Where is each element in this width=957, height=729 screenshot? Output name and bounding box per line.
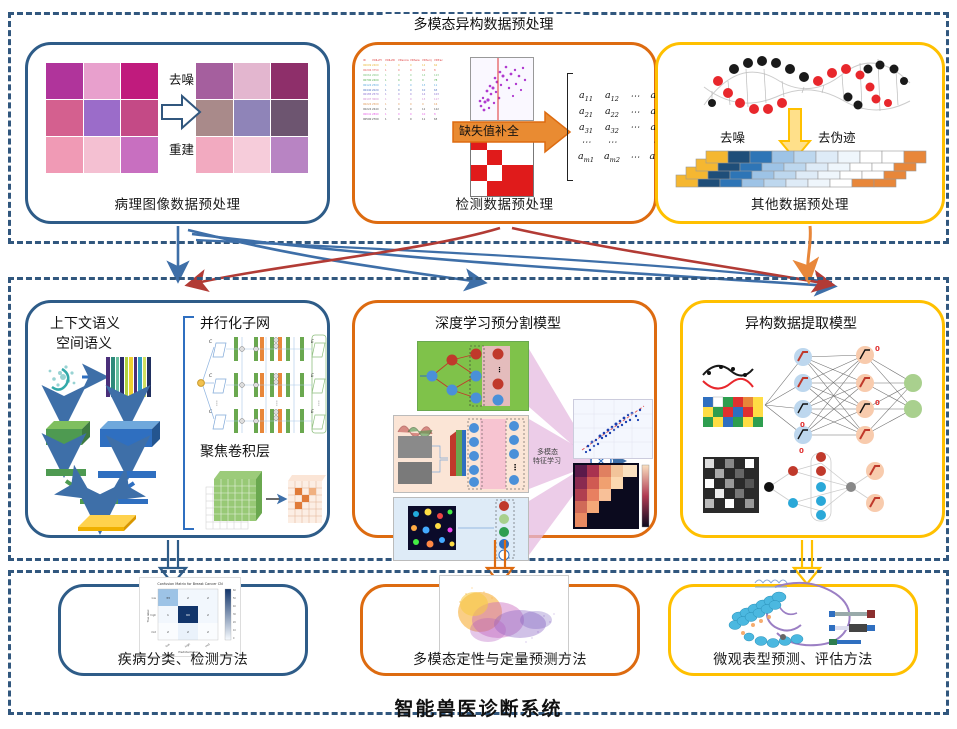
correlation-heatmap-thumb bbox=[573, 463, 651, 529]
panel-caption: 病理图像数据预处理 bbox=[28, 193, 327, 213]
missing-value-matrix bbox=[470, 133, 534, 197]
svg-text:⋮: ⋮ bbox=[274, 400, 280, 407]
svg-text:⋮: ⋮ bbox=[316, 400, 322, 407]
panel-disease-classification-detection[interactable]: Confusion Matrix for Breast Cancer CN 33… bbox=[58, 584, 308, 676]
multimodal-feature-block bbox=[393, 497, 529, 561]
feature-extraction-block: ⋮ bbox=[393, 415, 529, 493]
svg-text:low: low bbox=[152, 596, 157, 600]
svg-text:50: 50 bbox=[233, 597, 236, 600]
svg-text:2: 2 bbox=[207, 613, 209, 617]
system-title: 智能兽医诊断系统 bbox=[0, 694, 957, 721]
svg-text:20: 20 bbox=[233, 621, 236, 624]
svg-text:⋮: ⋮ bbox=[511, 463, 519, 472]
panel-caption: 多模态定性与定量预测方法 bbox=[363, 649, 637, 669]
svg-text:E: E bbox=[311, 339, 314, 345]
pathology-tiles-after bbox=[196, 63, 308, 173]
denoise-label: 去噪 bbox=[720, 127, 745, 146]
panel-pathology-preprocess[interactable]: 去噪 重建 病理图像数据预处理 bbox=[25, 42, 330, 224]
svg-text:mid: mid bbox=[204, 642, 211, 648]
green-network-block: ⋮ bbox=[417, 341, 529, 411]
svg-text:high: high bbox=[184, 642, 191, 649]
down-arrow-icon bbox=[779, 107, 811, 161]
svg-text:low: low bbox=[164, 642, 171, 648]
panel-deep-learning-presegmentation-model[interactable]: 深度学习预分割模型 ⋮ bbox=[352, 300, 657, 538]
denoise-label: 去噪 bbox=[169, 69, 194, 88]
svg-text:0: 0 bbox=[799, 447, 804, 455]
parallel-subnet-diagram: CCC EEE bbox=[196, 333, 328, 437]
chart-title-text: Confusion Matrix for Breast Cancer CN bbox=[157, 582, 223, 586]
svg-text:⋮: ⋮ bbox=[214, 400, 220, 407]
panel-caption: 检测数据预处理 bbox=[355, 193, 654, 213]
svg-text:1: 1 bbox=[167, 613, 169, 617]
svg-text:30: 30 bbox=[233, 613, 236, 616]
pathology-tiles-before bbox=[46, 63, 158, 173]
focused-conv-title: 聚焦卷积层 bbox=[200, 441, 270, 461]
svg-text:40: 40 bbox=[233, 605, 236, 608]
svg-text:E: E bbox=[311, 409, 314, 415]
confusion-matrix-chart: Confusion Matrix for Breast Cancer CN 33… bbox=[139, 577, 241, 657]
panel-context-spatial-semantic-model[interactable]: 上下文语义 空间语义 并行化子网 聚焦卷积层 bbox=[25, 300, 330, 538]
regression-scatter-thumb bbox=[573, 399, 653, 459]
scatter-plot-thumb bbox=[470, 57, 534, 121]
deartifact-label: 去伪迹 bbox=[818, 127, 856, 146]
impute-label: 缺失值补全 bbox=[459, 122, 519, 139]
spatial-semantic-title: 空间语义 bbox=[56, 333, 112, 353]
panel-caption: 疾病分类、检测方法 bbox=[61, 649, 305, 669]
svg-text:33: 33 bbox=[166, 596, 170, 600]
panel-caption: 其他数据预处理 bbox=[658, 193, 942, 213]
mlp-network-diagram: 00 00 bbox=[699, 343, 931, 453]
svg-text:2: 2 bbox=[187, 596, 189, 600]
svg-text:0: 0 bbox=[233, 637, 235, 640]
svg-text:high: high bbox=[150, 613, 156, 617]
svg-text:0: 0 bbox=[800, 421, 805, 429]
svg-text:2: 2 bbox=[207, 630, 209, 634]
panel-caption: 微观表型预测、评估方法 bbox=[671, 649, 915, 669]
svg-text:⋮: ⋮ bbox=[496, 366, 503, 374]
model-title: 深度学习预分割模型 bbox=[435, 313, 561, 333]
density-scatter-chart bbox=[439, 575, 569, 659]
svg-text:10: 10 bbox=[233, 629, 236, 632]
focused-conv-diagram bbox=[200, 463, 326, 537]
svg-text:60: 60 bbox=[233, 589, 236, 592]
graph-network-diagram bbox=[703, 453, 933, 531]
svg-text:C: C bbox=[209, 339, 213, 345]
semantic-pipeline-diagram bbox=[38, 351, 188, 531]
context-semantic-title: 上下文语义 bbox=[50, 313, 120, 333]
dna-helix-icon bbox=[698, 53, 918, 123]
group-bracket bbox=[178, 313, 196, 533]
fusion-label-2: 特征学习 bbox=[533, 456, 561, 466]
svg-text:2: 2 bbox=[167, 630, 169, 634]
svg-text:mid: mid bbox=[151, 630, 156, 634]
svg-text:0: 0 bbox=[875, 345, 880, 353]
panel-other-preprocess[interactable]: 去噪 去伪迹 bbox=[655, 42, 945, 224]
svg-text:2: 2 bbox=[207, 596, 209, 600]
svg-text:60: 60 bbox=[186, 613, 190, 617]
panel-heterogeneous-data-extraction-model[interactable]: 异构数据提取模型 bbox=[680, 300, 945, 538]
svg-text:0: 0 bbox=[875, 399, 880, 407]
panel-multimodal-prediction[interactable]: 多模态定性与定量预测方法 bbox=[360, 584, 640, 676]
protein-structure-icon bbox=[717, 575, 887, 655]
svg-text:E: E bbox=[311, 373, 314, 379]
svg-text:C: C bbox=[209, 409, 213, 415]
input-band-title: 多模态异构数据预处理 bbox=[385, 14, 582, 34]
reconstruct-label: 重建 bbox=[169, 139, 194, 158]
detection-data-table: IDVOIL2HVOIL2NVDscoreVDhereVDhurijVDfrac… bbox=[363, 59, 455, 164]
panel-microphenotype-prediction[interactable]: 微观表型预测、评估方法 bbox=[668, 584, 918, 676]
svg-text:2: 2 bbox=[187, 630, 189, 634]
svg-text:C: C bbox=[209, 373, 213, 379]
parallel-subnet-title: 并行化子网 bbox=[200, 313, 270, 333]
panel-detection-preprocess[interactable]: IDVOIL2HVOIL2NVDscoreVDhereVDhurijVDfrac… bbox=[352, 42, 657, 224]
model-title: 异构数据提取模型 bbox=[745, 313, 857, 333]
y-axis-label: True label bbox=[146, 609, 150, 622]
